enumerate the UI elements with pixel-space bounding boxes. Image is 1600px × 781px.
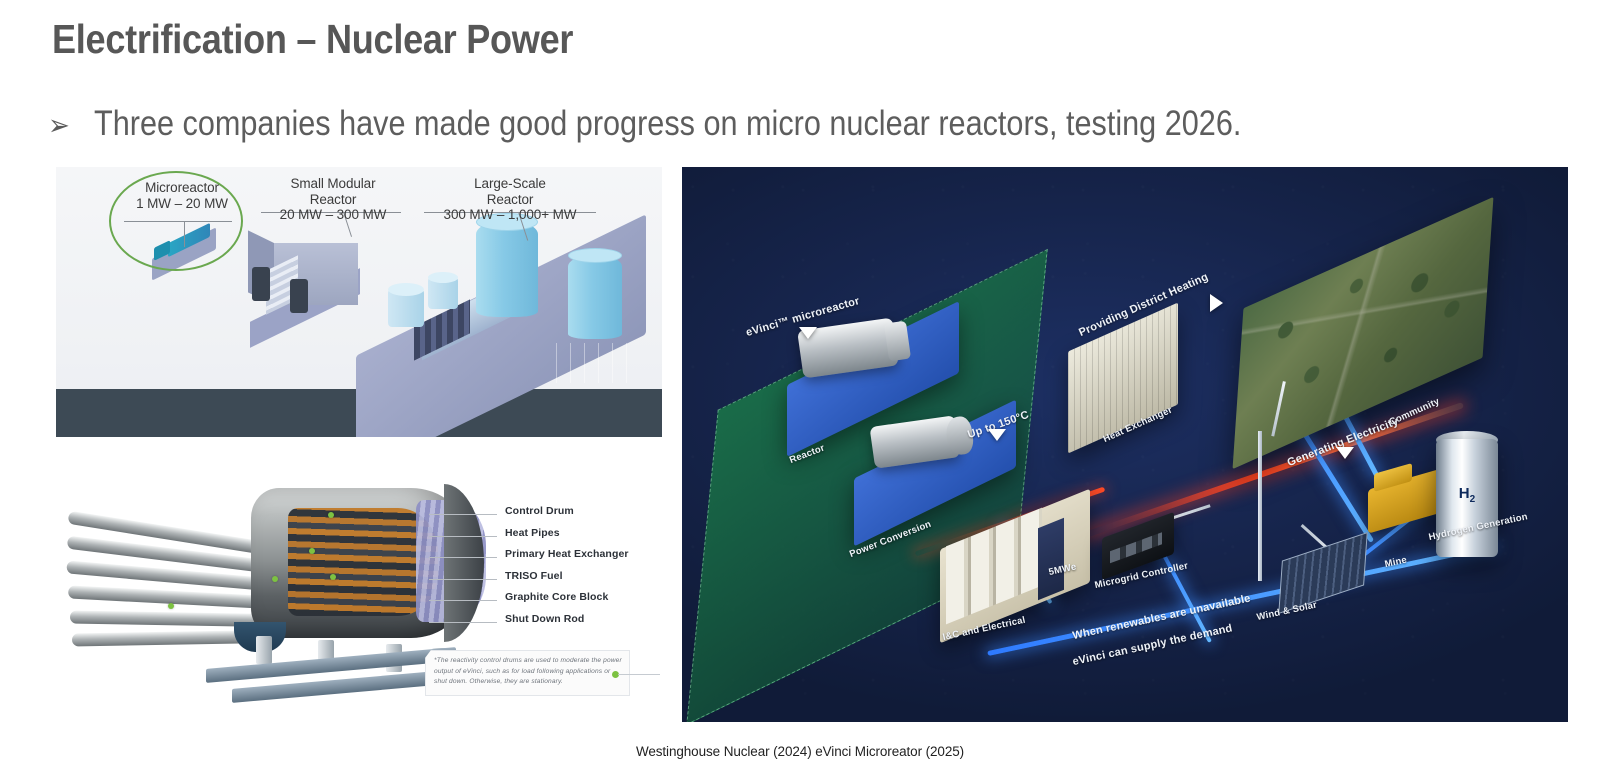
pointer-down-icon: [799, 327, 817, 339]
large-plant-silo-top: [388, 283, 424, 296]
microreactor-name: Microreactor: [118, 180, 246, 196]
pointer-down-icon: [988, 429, 1006, 441]
wind-turbine-pole: [1258, 431, 1262, 581]
callout-leader-line: [429, 579, 497, 580]
cooling-tower: [568, 255, 622, 339]
bullet-point: ➢ Three companies have made good progres…: [48, 104, 1405, 144]
callout-label: TRISO Fuel: [505, 570, 563, 582]
callout-item: TRISO Fuel: [429, 570, 654, 592]
smr-tank: [252, 267, 270, 301]
smr-range: 20 MW – 300 MW: [259, 207, 407, 223]
label-microreactor: Microreactor 1 MW – 20 MW: [118, 180, 246, 211]
cutaway-footnote-text: *The reactivity control drums are used t…: [434, 656, 624, 688]
callout-item: Shut Down Rod: [429, 613, 654, 635]
transmission-pylons: [556, 343, 636, 383]
callout-leader-line: [429, 536, 497, 537]
slide: Electrification – Nuclear Power ➢ Three …: [0, 0, 1600, 781]
cooling-tower: [476, 221, 538, 317]
smr-name-line2: Reactor: [259, 192, 407, 208]
callout-leader-line: [429, 600, 497, 601]
evinci-ecosystem-diagram: H2 eVinci™ microreactor Reactor Power Co…: [682, 167, 1568, 722]
callout-item: Primary Heat Exchanger: [429, 548, 654, 570]
pointer-right-icon: [1210, 294, 1223, 312]
callout-label: Primary Heat Exchanger: [505, 548, 629, 560]
callout-leader-line: [429, 622, 497, 623]
reactor-scale-diagram: Microreactor 1 MW – 20 MW Small Modular …: [56, 167, 662, 437]
cooling-tower-rim: [568, 248, 622, 263]
support-leg: [256, 636, 272, 664]
smr-tank: [290, 279, 308, 313]
large-name-line2: Reactor: [421, 192, 599, 208]
callout-label: Control Drum: [505, 505, 574, 517]
callout-item: Graphite Core Block: [429, 591, 654, 613]
page-title: Electrification – Nuclear Power: [52, 16, 573, 63]
callout-marker-dot: [272, 576, 278, 582]
hydrogen-subscript: 2: [1470, 494, 1476, 505]
arrow-bullet-icon: ➢: [48, 108, 89, 143]
callout-leader-line: [429, 557, 497, 558]
hydrogen-symbol: H: [1459, 485, 1470, 502]
smr-name-line1: Small Modular: [259, 176, 407, 192]
hydrogen-symbol-label: H2: [1436, 485, 1498, 505]
label-small-modular-reactor: Small Modular Reactor 20 MW – 300 MW: [259, 176, 407, 223]
callout-item: Heat Pipes: [429, 527, 654, 549]
callout-item: Control Drum: [429, 505, 654, 527]
callout-marker-dot: [328, 512, 334, 518]
callout-label: Heat Pipes: [505, 527, 560, 539]
microreactor-range: 1 MW – 20 MW: [118, 196, 246, 212]
electrical-cabinet-door: [1038, 518, 1064, 601]
source-caption: Westinghouse Nuclear (2024) eVinci Micro…: [0, 744, 1600, 759]
callout-marker-dot: [330, 574, 336, 580]
pointer-down-icon: [1336, 447, 1354, 459]
callout-marker-dot: [309, 548, 315, 554]
large-plant-silo-top: [428, 272, 458, 283]
reactor-cutaway-diagram: Control Drum Heat Pipes Primary Heat Exc…: [56, 450, 662, 722]
callout-label: Graphite Core Block: [505, 591, 608, 603]
cutaway-footnote-box: *The reactivity control drums are used t…: [425, 650, 630, 696]
callout-leader-line: [429, 514, 497, 515]
cutaway-callout-list: Control Drum Heat Pipes Primary Heat Exc…: [429, 505, 654, 634]
large-name-line1: Large-Scale: [421, 176, 599, 192]
bullet-text: Three companies have made good progress …: [94, 104, 1241, 144]
large-range: 300 MW – 1,000+ MW: [421, 207, 599, 223]
callout-marker-dot: [168, 603, 174, 609]
label-large-scale-reactor: Large-Scale Reactor 300 MW – 1,000+ MW: [421, 176, 599, 223]
footnote-leader-line: [618, 674, 660, 675]
callout-label: Shut Down Rod: [505, 613, 584, 625]
